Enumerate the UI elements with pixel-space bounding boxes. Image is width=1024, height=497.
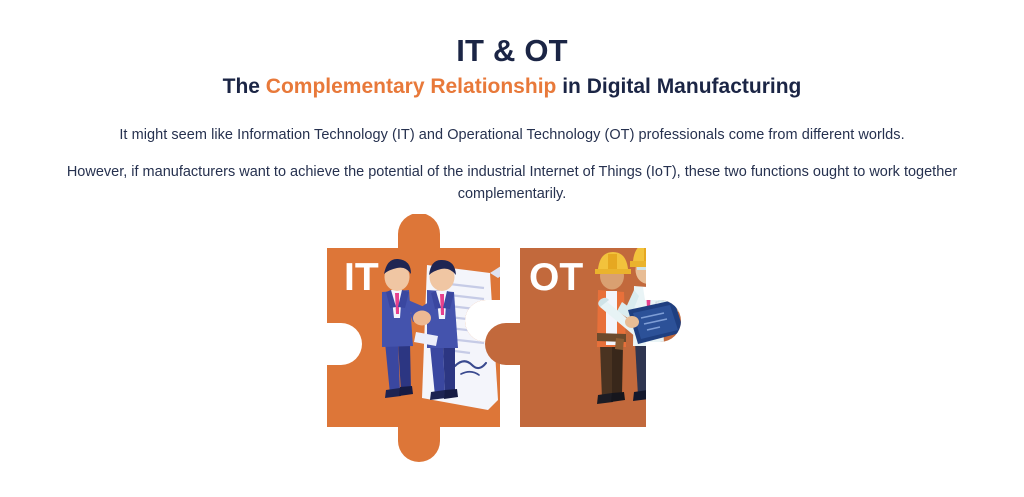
puzzle-piece-left: IT: [327, 214, 504, 462]
puzzle-piece-left-shape: [327, 214, 500, 462]
puzzle-label-ot: OT: [529, 256, 583, 299]
infographic-page: IT & OT The Complementary Relationship i…: [0, 0, 1024, 497]
subtitle-accent-text: Complementary Relationship: [266, 75, 557, 98]
puzzle-label-it: IT: [344, 256, 379, 299]
subtitle-lead-text: The: [223, 75, 266, 98]
paragraph-two: However, if manufacturers want to achiev…: [32, 162, 992, 206]
subtitle-tail-text: in Digital Manufacturing: [556, 75, 801, 98]
puzzle-illustration: IT: [312, 214, 732, 474]
it-scene: [382, 259, 504, 410]
puzzle-piece-right: OT: [485, 243, 690, 427]
body-copy-block: It might seem like Information Technolog…: [0, 125, 1024, 206]
ot-scene: [595, 243, 690, 404]
paragraph-one: It might seem like Information Technolog…: [0, 125, 1024, 146]
page-subtitle: The Complementary Relationship in Digita…: [0, 74, 1024, 99]
page-title: IT & OT: [0, 34, 1024, 68]
header-block: IT & OT The Complementary Relationship i…: [0, 0, 1024, 99]
